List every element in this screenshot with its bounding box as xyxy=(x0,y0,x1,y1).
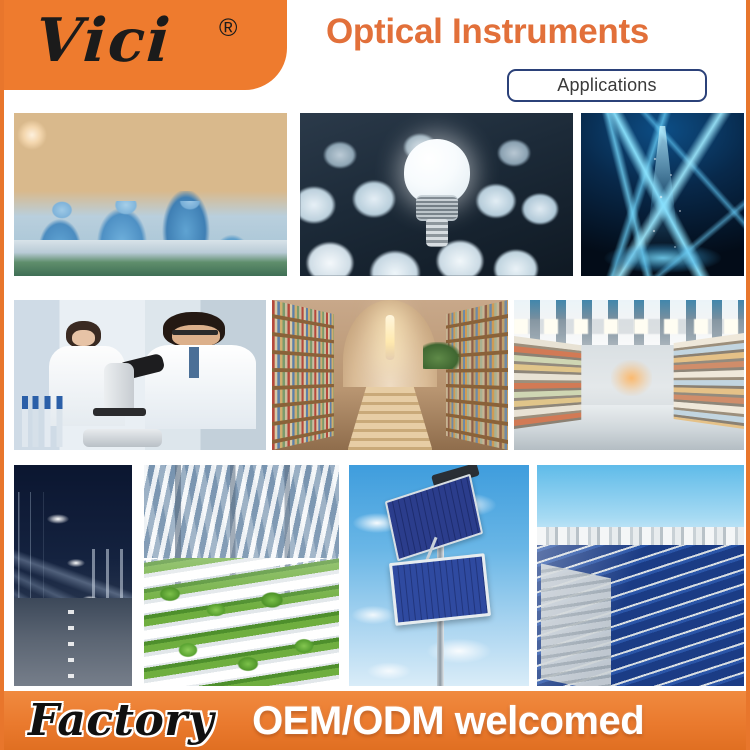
bookshelf-left-shape xyxy=(272,300,334,450)
gallery-item-laboratory-microscope[interactable] xyxy=(14,300,266,450)
supermarket-aisle-image xyxy=(514,300,744,450)
laser-particles-shape xyxy=(649,149,689,250)
pipettes-shape xyxy=(17,396,77,447)
operating-table-shape xyxy=(14,240,287,276)
microscope-shape xyxy=(80,363,166,447)
gallery-item-supermarket-aisle[interactable] xyxy=(514,300,744,450)
gallery-item-surgical-lighting[interactable] xyxy=(14,113,287,276)
gallery-item-solar-farm[interactable] xyxy=(537,465,744,686)
laboratory-microscope-image xyxy=(14,300,266,450)
solar-street-light-image xyxy=(349,465,529,686)
bulb-screw-base-shape xyxy=(426,219,448,247)
gallery-item-stage-laser-lighting[interactable] xyxy=(581,113,744,276)
hero-led-bulb-shape xyxy=(404,139,470,247)
library-bookshelves-image xyxy=(272,300,508,450)
library-stairs-shape xyxy=(348,387,433,450)
surgical-caps-shape xyxy=(14,201,287,230)
surgical-lighting-image xyxy=(14,113,287,276)
supermarket-end-glow-shape xyxy=(611,360,652,396)
library-plant-shape xyxy=(423,342,461,369)
supermarket-shelf-right-shape xyxy=(674,333,744,429)
panel-sheen-shape xyxy=(537,545,744,686)
library-pendant-lamp-shape xyxy=(386,315,395,360)
gallery-item-solar-street-light[interactable] xyxy=(349,465,529,686)
footer-banner: Factory OEM/ODM welcomed xyxy=(0,691,750,750)
footer-factory-label: Factory xyxy=(28,698,214,744)
footer-oem-label: OEM/ODM welcomed xyxy=(252,699,644,743)
street-lighting-image xyxy=(14,465,132,686)
supermarket-shelf-left-shape xyxy=(514,336,581,429)
solar-farm-image xyxy=(537,465,744,686)
gallery-item-greenhouse-horticulture[interactable] xyxy=(144,465,339,686)
road-surface-shape xyxy=(14,598,132,686)
application-gallery xyxy=(4,0,750,750)
greenhouse-horticulture-image xyxy=(144,465,339,686)
bulb-fins-shape xyxy=(416,197,458,219)
poster-root: Vici ® Optical Instruments Applications xyxy=(0,0,750,750)
gallery-item-street-lighting[interactable] xyxy=(14,465,132,686)
solar-panel-lower-shape xyxy=(389,553,491,626)
lettuce-plants-shape xyxy=(144,576,339,687)
stage-laser-lighting-image xyxy=(581,113,744,276)
led-bulbs-image xyxy=(300,113,573,276)
bookshelf-right-shape xyxy=(446,300,508,450)
gallery-item-led-bulbs[interactable] xyxy=(300,113,573,276)
gallery-item-library-bookshelves[interactable] xyxy=(272,300,508,450)
